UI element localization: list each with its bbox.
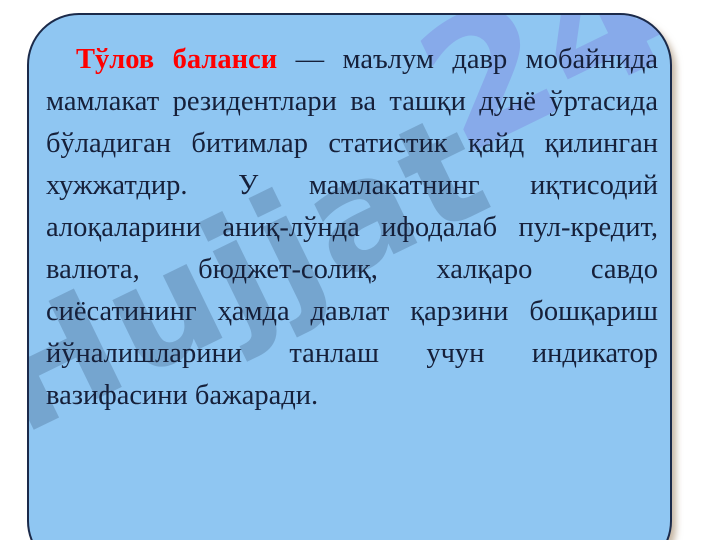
slide-canvas: 24 Hujjat Тўлов баланси — маълум давр мо… (0, 0, 720, 540)
definition-text: маълум давр мобайнида мамлакат резидентл… (46, 44, 658, 411)
definition-paragraph: Тўлов баланси — маълум давр мобайнида ма… (46, 39, 658, 417)
term-label: Тўлов баланси (76, 44, 277, 75)
content-card: 24 Hujjat Тўлов баланси — маълум давр мо… (27, 13, 672, 540)
term-dash: — (277, 44, 342, 75)
